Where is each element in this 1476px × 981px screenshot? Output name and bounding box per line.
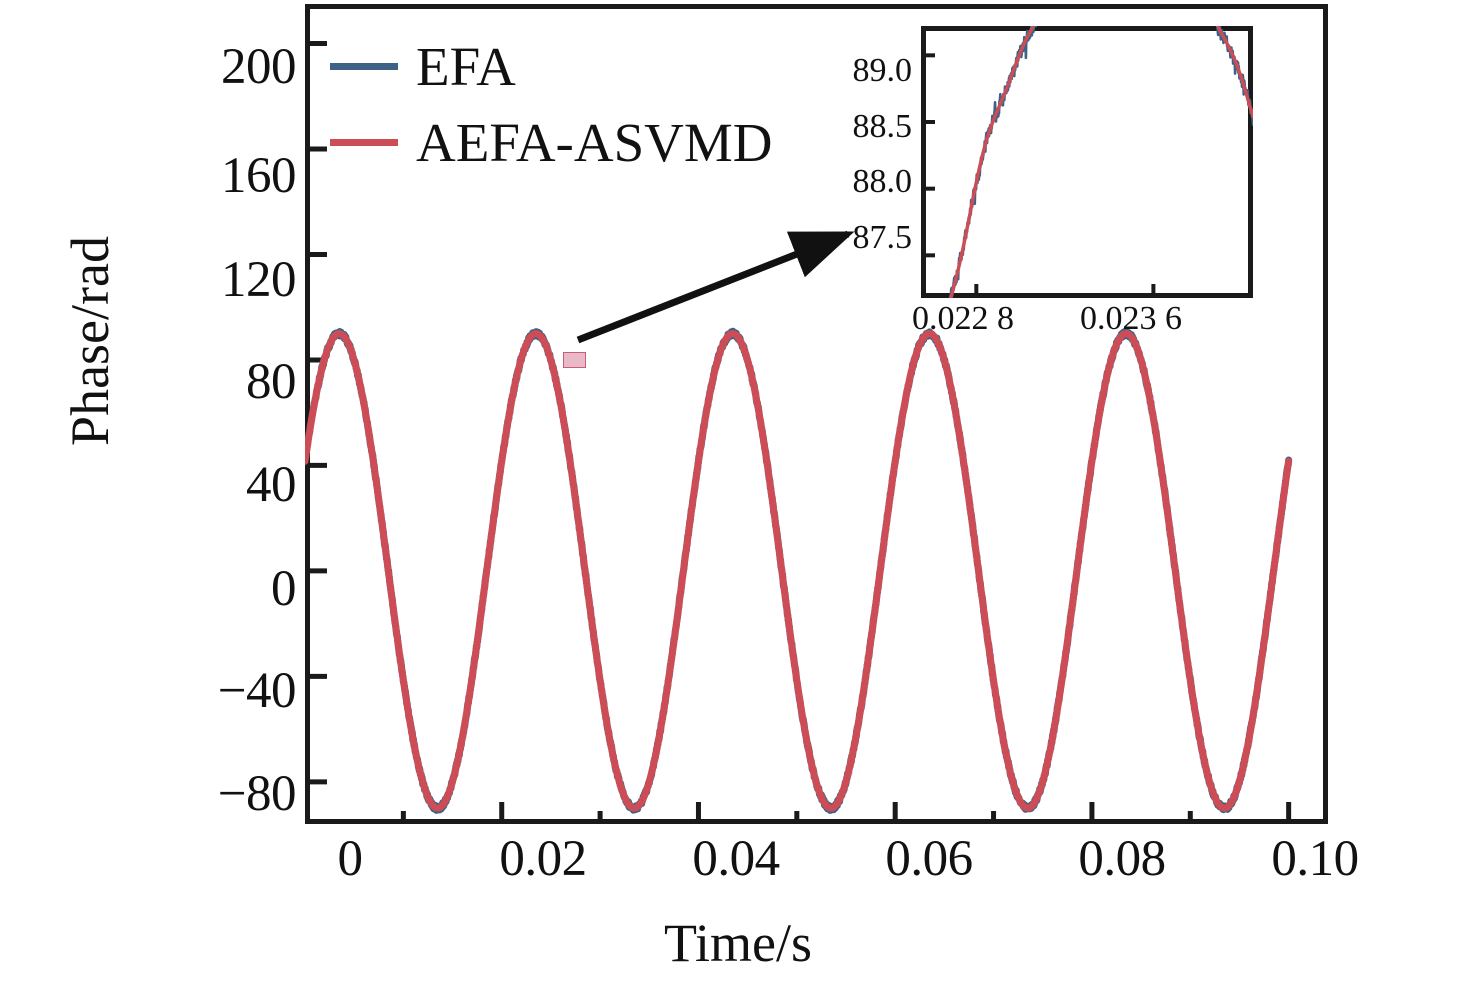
inset-axis-ticks [921,55,1153,298]
legend: EFA AEFA-ASVMD [330,28,850,180]
legend-label-efa: EFA [416,39,516,94]
x-tick-label: 0.10 [1215,834,1415,885]
inset-x-tick-label: 0.023 6 [1021,302,1241,336]
y-tick-label: 120 [136,255,296,306]
legend-swatch-aefa-asvmd [330,139,398,146]
callout-arrow [560,190,890,380]
y-tick-label: 200 [136,42,296,93]
y-tick-label: 0 [136,564,296,615]
y-tick-label: 40 [136,460,296,511]
inset-y-tick-label: 89.0 [772,54,912,88]
y-tick-label: −40 [136,666,296,717]
y-axis-label: Phase/rad [59,131,121,551]
x-tick-label: 0 [250,834,450,885]
y-tick-label: 160 [136,151,296,202]
y-tick-label: 80 [136,357,296,408]
legend-label-aefa-asvmd: AEFA-ASVMD [416,115,773,170]
x-tick-label: 0.08 [1022,834,1222,885]
phase-waveform-figure: 200 160 120 80 40 0 −40 −80 0 0.02 0.04 … [0,0,1476,981]
inset-series-line-aefa-asvmd [921,26,1253,298]
inset-plot-canvas [921,26,1253,298]
inset-y-tick-label: 88.5 [772,110,912,144]
x-tick-label: 0.04 [636,834,836,885]
y-tick-label: −80 [136,769,296,820]
series-line-efa [305,331,1289,810]
legend-swatch-efa [330,63,398,70]
inset-y-tick-label: 87.5 [772,221,912,255]
series-line-aefa-asvmd [305,334,1289,809]
inset-series-line-efa [921,26,1253,298]
x-axis-label: Time/s [0,912,1476,974]
x-tick-label: 0.02 [443,834,643,885]
x-tick-label: 0.06 [829,834,1029,885]
inset-y-tick-label: 88.0 [772,165,912,199]
